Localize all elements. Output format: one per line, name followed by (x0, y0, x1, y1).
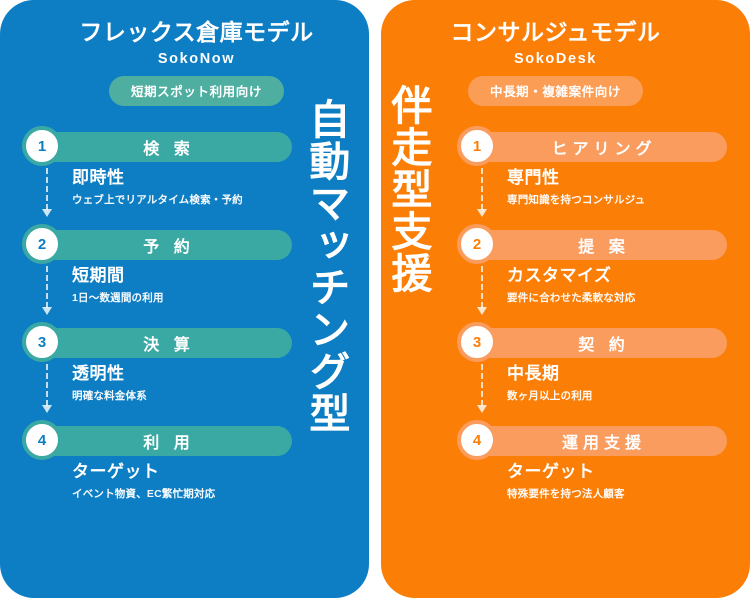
left-step-2-stage-label: 予 約 (24, 233, 292, 257)
right-panel-header: コンサルジュモデル SokoDesk 中長期・複雑案件向け (381, 0, 750, 106)
left-step-3-body: 透明性 明確な料金体系 (24, 358, 292, 403)
right-step-4-heading: ターゲット (507, 462, 727, 482)
right-step-2-body: カスタマイズ 要件に合わせた柔軟な対応 (459, 260, 727, 305)
right-step-2-stage-label: 提 案 (459, 233, 727, 257)
left-step-1-stage-label: 検 索 (24, 135, 292, 159)
left-step-4-bar: 4 利 用 (24, 426, 292, 456)
left-step-4-number-badge: 4 (22, 420, 62, 460)
left-step-3-bar: 3 決 算 (24, 328, 292, 358)
left-panel-header: フレックス倉庫モデル SokoNow 短期スポット利用向け (0, 0, 369, 106)
right-panel-concierge: コンサルジュモデル SokoDesk 中長期・複雑案件向け 1 ヒアリング 専門… (381, 0, 750, 598)
left-connector-1-to-2-arrow-icon (42, 168, 52, 226)
left-step-1-number-badge: 1 (22, 126, 62, 166)
right-step-2-number-badge: 2 (457, 224, 497, 264)
right-step-4: 4 運用支援 ターゲット 特殊要件を持つ法人顧客 (459, 426, 727, 506)
right-vertical-headline: 伴走型支援 (386, 84, 428, 294)
left-step-1-description: ウェブ上でリアルタイム検索・予約 (72, 192, 292, 207)
right-step-4-description: 特殊要件を持つ法人顧客 (507, 486, 727, 501)
right-step-3-body: 中長期 数ヶ月以上の利用 (459, 358, 727, 403)
left-step-2-bar: 2 予 約 (24, 230, 292, 260)
right-tagline-badge: 中長期・複雑案件向け (468, 76, 643, 106)
left-step-4-heading: ターゲット (72, 462, 292, 482)
right-step-4-stage-label: 運用支援 (459, 429, 727, 453)
right-step-1-stage-label: ヒアリング (459, 135, 727, 159)
right-step-3-bar: 3 契 約 (459, 328, 727, 358)
right-step-1-bar: 1 ヒアリング (459, 132, 727, 162)
right-step-3-heading: 中長期 (507, 364, 727, 384)
right-step-1-number-badge: 1 (457, 126, 497, 166)
left-step-2-body: 短期間 1日〜数週間の利用 (24, 260, 292, 305)
right-connector-2-to-3-arrow-icon (477, 266, 487, 324)
right-tagline-wrap: 中長期・複雑案件向け (381, 76, 750, 106)
right-step-4-number-badge: 4 (457, 420, 497, 460)
left-step-4: 4 利 用 ターゲット イベント物資、EC繁忙期対応 (24, 426, 292, 506)
left-step-3-stage-label: 決 算 (24, 331, 292, 355)
left-step-1-body: 即時性 ウェブ上でリアルタイム検索・予約 (24, 162, 292, 207)
left-step-2-heading: 短期間 (72, 266, 292, 286)
right-step-4-bar: 4 運用支援 (459, 426, 727, 456)
left-step-4-stage-label: 利 用 (24, 429, 292, 453)
comparison-infographic: フレックス倉庫モデル SokoNow 短期スポット利用向け 1 検 索 即時性 … (0, 0, 750, 598)
left-model-title: フレックス倉庫モデル (0, 20, 369, 45)
right-step-1-heading: 専門性 (507, 168, 727, 188)
right-step-3-stage-label: 契 約 (459, 331, 727, 355)
left-connector-2-to-3-arrow-icon (42, 266, 52, 324)
right-step-2-description: 要件に合わせた柔軟な対応 (507, 290, 727, 305)
left-step-4-description: イベント物資、EC繁忙期対応 (72, 486, 292, 501)
left-step-3-number-badge: 3 (22, 322, 62, 362)
right-model-title: コンサルジュモデル (381, 20, 750, 45)
left-connector-3-to-4-arrow-icon (42, 364, 52, 422)
left-step-1-bar: 1 検 索 (24, 132, 292, 162)
right-step-2-bar: 2 提 案 (459, 230, 727, 260)
right-connector-1-to-2-arrow-icon (477, 168, 487, 226)
left-step-1-heading: 即時性 (72, 168, 292, 188)
left-step-1: 1 検 索 即時性 ウェブ上でリアルタイム検索・予約 (24, 132, 292, 230)
left-step-2: 2 予 約 短期間 1日〜数週間の利用 (24, 230, 292, 328)
left-step-3: 3 決 算 透明性 明確な料金体系 (24, 328, 292, 426)
left-step-4-body: ターゲット イベント物資、EC繁忙期対応 (24, 456, 292, 501)
right-step-2-heading: カスタマイズ (507, 266, 727, 286)
left-steps-list: 1 検 索 即時性 ウェブ上でリアルタイム検索・予約 2 予 約 短期間 (24, 132, 292, 506)
left-tagline-badge: 短期スポット利用向け (109, 76, 284, 106)
right-connector-3-to-4-arrow-icon (477, 364, 487, 422)
right-step-1: 1 ヒアリング 専門性 専門知識を持つコンサルジュ (459, 132, 727, 230)
left-step-2-number-badge: 2 (22, 224, 62, 264)
right-step-3: 3 契 約 中長期 数ヶ月以上の利用 (459, 328, 727, 426)
left-step-3-description: 明確な料金体系 (72, 388, 292, 403)
right-model-subtitle: SokoDesk (381, 51, 750, 67)
right-step-1-body: 専門性 専門知識を持つコンサルジュ (459, 162, 727, 207)
right-step-3-number-badge: 3 (457, 322, 497, 362)
left-step-2-description: 1日〜数週間の利用 (72, 290, 292, 305)
left-model-subtitle: SokoNow (0, 51, 369, 67)
right-step-2: 2 提 案 カスタマイズ 要件に合わせた柔軟な対応 (459, 230, 727, 328)
left-vertical-headline: 自動マッチング型 (304, 98, 346, 434)
right-steps-list: 1 ヒアリング 専門性 専門知識を持つコンサルジュ 2 提 案 カスタマイズ (459, 132, 727, 506)
right-step-4-body: ターゲット 特殊要件を持つ法人顧客 (459, 456, 727, 501)
right-step-3-description: 数ヶ月以上の利用 (507, 388, 727, 403)
left-step-3-heading: 透明性 (72, 364, 292, 384)
right-step-1-description: 専門知識を持つコンサルジュ (507, 192, 727, 207)
